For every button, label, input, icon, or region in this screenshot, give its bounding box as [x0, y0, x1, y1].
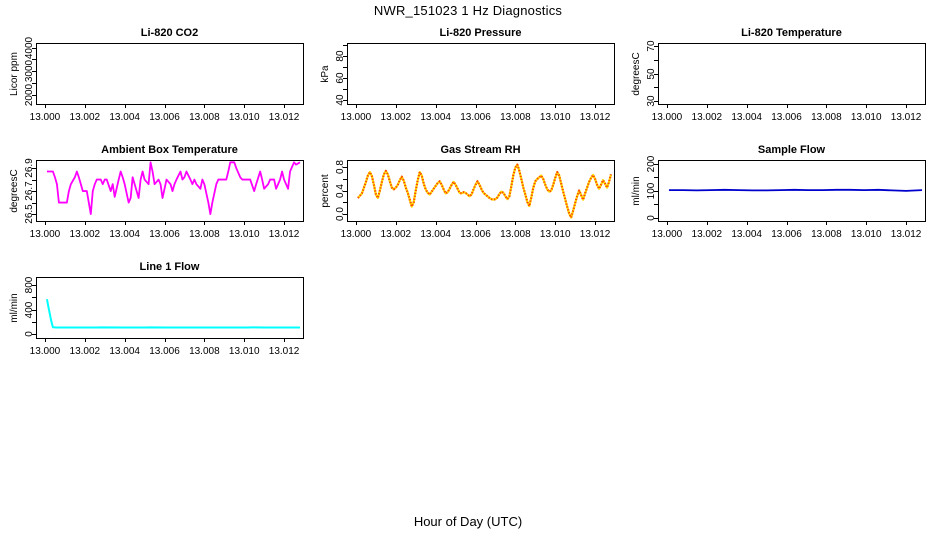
y-tick-label: 200	[646, 156, 657, 173]
plot-area	[622, 27, 934, 144]
y-axis-label: kPa	[320, 65, 331, 82]
plot-frame	[37, 278, 304, 339]
x-tick-label: 13.012	[254, 229, 314, 240]
data-series-line	[47, 162, 300, 214]
y-axis-label: degreesC	[631, 52, 642, 95]
y-tick-label: 0.0	[335, 207, 346, 221]
y-tick-label: 0.4	[335, 184, 346, 198]
y-tick-label: 0	[646, 215, 657, 221]
y-tick-label: 3000	[24, 60, 35, 82]
y-tick-label: 30	[646, 96, 657, 107]
y-tick-label: 800	[24, 277, 35, 294]
y-axis-label: Licor ppm	[9, 52, 20, 96]
plot-area	[0, 144, 312, 261]
y-axis-label: ml/min	[9, 293, 20, 322]
y-tick-label: 26.7	[24, 181, 35, 200]
y-tick-label: 2000	[24, 83, 35, 105]
x-tick-label: 13.012	[254, 112, 314, 123]
y-tick-label: 70	[646, 40, 657, 51]
global-x-axis-label: Hour of Day (UTC)	[0, 514, 936, 529]
panel-li820-co2: Li-820 CO2Licor ppm20003000400013.00013.…	[0, 27, 312, 144]
plot-area	[311, 27, 623, 144]
y-tick-label: 0.8	[335, 161, 346, 175]
data-series-line	[669, 190, 922, 191]
y-tick-label: 60	[335, 72, 346, 83]
x-tick-label: 13.012	[565, 229, 625, 240]
diagnostics-figure: NWR_151023 1 Hz Diagnostics Li-820 CO2Li…	[0, 0, 936, 540]
y-axis-label: degreesC	[9, 169, 20, 212]
panel-sample-flow: Sample Flowml/min010020013.00013.00213.0…	[622, 144, 934, 261]
y-tick-label: 100	[646, 183, 657, 200]
y-axis-label: ml/min	[631, 176, 642, 205]
x-tick-label: 13.012	[876, 112, 936, 123]
y-tick-label: 0	[24, 332, 35, 338]
panel-line-1-flow: Line 1 Flowml/min040080013.00013.00213.0…	[0, 261, 312, 378]
y-tick-label: 50	[646, 68, 657, 79]
y-tick-label: 80	[335, 51, 346, 62]
plot-area	[622, 144, 934, 261]
panel-gas-stream-rh: Gas Stream RHpercent0.00.40.813.00013.00…	[311, 144, 623, 261]
plot-area	[311, 144, 623, 261]
figure-title: NWR_151023 1 Hz Diagnostics	[0, 3, 936, 18]
plot-area	[0, 261, 312, 378]
plot-area	[0, 27, 312, 144]
y-tick-label: 4000	[24, 37, 35, 59]
y-tick-label: 40	[335, 94, 346, 105]
panel-ambient-box-temperature: Ambient Box TemperaturedegreesC26.526.72…	[0, 144, 312, 261]
plot-frame	[659, 44, 926, 105]
data-series-line	[47, 299, 300, 327]
data-series-line	[358, 165, 611, 218]
y-axis-label: percent	[320, 174, 331, 207]
plot-frame	[37, 44, 304, 105]
plot-frame	[348, 161, 615, 222]
panel-li820-pressure: Li-820 PressurekPa40608013.00013.00213.0…	[311, 27, 623, 144]
y-tick-label: 400	[24, 301, 35, 318]
x-tick-label: 13.012	[565, 112, 625, 123]
panel-li820-temperature: Li-820 TemperaturedegreesC30507013.00013…	[622, 27, 934, 144]
plot-frame	[37, 161, 304, 222]
x-tick-label: 13.012	[876, 229, 936, 240]
x-tick-label: 13.012	[254, 346, 314, 357]
plot-frame	[348, 44, 615, 105]
y-tick-label: 26.5	[24, 204, 35, 223]
y-tick-label: 26.9	[24, 158, 35, 177]
